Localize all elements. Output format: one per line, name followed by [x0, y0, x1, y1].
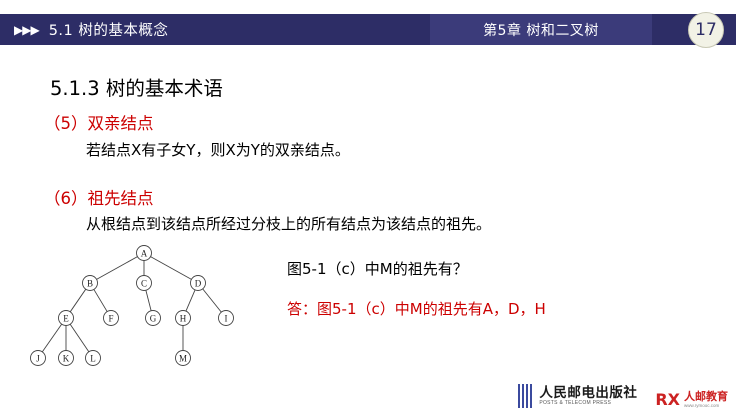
tree-node-label: E: [63, 313, 69, 323]
tree-node-label: F: [108, 313, 113, 323]
slide: ▶▶▶ 5.1 树的基本概念 第5章 树和二叉树 17 5.1.3 树的基本术语…: [0, 0, 736, 414]
page-number-badge: 17: [688, 12, 724, 48]
brand-logo: RX 人邮教育 www.rymooc.com: [655, 391, 728, 408]
tree-node: B: [83, 276, 98, 291]
tree-edge: [203, 289, 222, 312]
tree-node: F: [104, 311, 119, 326]
slide-header: ▶▶▶ 5.1 树的基本概念 第5章 树和二叉树 17: [0, 14, 736, 45]
tree-node: C: [137, 276, 152, 291]
tree-node: D: [191, 276, 206, 291]
publisher-logo: 人民邮电出版社 POSTS & TELECOM PRESS: [518, 384, 637, 408]
tree-node-label: C: [141, 278, 147, 288]
term-label-5: （5）双亲结点: [44, 110, 154, 134]
tree-node-label: D: [195, 278, 202, 288]
tree-node: J: [31, 351, 46, 366]
publisher-name-cn: 人民邮电出版社: [539, 386, 637, 400]
tree-node: L: [86, 351, 101, 366]
tree-edge: [94, 289, 107, 311]
header-chapter-box: 第5章 树和二叉树: [430, 14, 652, 45]
brand-mark-icon: RX: [655, 392, 680, 408]
tree-node-label: M: [179, 353, 187, 363]
tree-node-label: J: [36, 353, 40, 363]
header-left-band: ▶▶▶ 5.1 树的基本概念: [0, 14, 430, 45]
term-label-6: （6）祖先结点: [44, 185, 154, 209]
section-heading: 5.1.3 树的基本术语: [50, 72, 223, 101]
tree-node-label: K: [63, 353, 70, 363]
tree-node: I: [219, 311, 234, 326]
tree-edge: [70, 324, 89, 352]
triple-right-arrow-icon: ▶▶▶: [14, 24, 39, 36]
tree-node: H: [176, 311, 191, 326]
tree-node-label: B: [87, 278, 93, 288]
tree-diagram: ABCDEFGHIJKLM: [20, 240, 280, 390]
tree-edge: [146, 290, 151, 310]
tree-edge: [97, 257, 138, 280]
footer-logos: 人民邮电出版社 POSTS & TELECOM PRESS RX 人邮教育 ww…: [518, 384, 728, 408]
brand-site: www.rymooc.com: [684, 403, 728, 408]
brand-name-cn: 人邮教育: [684, 391, 728, 403]
tree-edge: [70, 289, 86, 312]
question-text: 图5-1（c）中M的祖先有？: [287, 258, 468, 279]
answer-text: 答：图5-1（c）中M的祖先有A，D，H: [287, 298, 546, 319]
header-section-title: 5.1 树的基本概念: [49, 19, 169, 40]
tree-node: G: [146, 311, 161, 326]
tree-node-label: G: [150, 313, 157, 323]
header-chapter-title: 第5章 树和二叉树: [483, 20, 599, 40]
publisher-mark-icon: [518, 384, 534, 408]
tree-diagram-svg: ABCDEFGHIJKLM: [20, 240, 280, 390]
tree-node: K: [59, 351, 74, 366]
page-number: 17: [695, 20, 717, 40]
term-body-5: 若结点X有子女Y，则X为Y的双亲结点。: [86, 139, 350, 160]
tree-node-label: I: [225, 313, 228, 323]
tree-node-label: A: [141, 248, 148, 258]
header-right-band: 第5章 树和二叉树 17: [430, 14, 736, 45]
tree-edge: [42, 324, 61, 352]
tree-node: E: [59, 311, 74, 326]
tree-edge: [151, 257, 192, 280]
tree-node-label: L: [90, 353, 96, 363]
publisher-name-en: POSTS & TELECOM PRESS: [539, 400, 637, 406]
tree-node: A: [137, 246, 152, 261]
tree-node-label: H: [180, 313, 187, 323]
term-body-6: 从根结点到该结点所经过分枝上的所有结点为该结点的祖先。: [86, 213, 491, 234]
tree-edge: [186, 290, 195, 311]
tree-node: M: [176, 351, 191, 366]
